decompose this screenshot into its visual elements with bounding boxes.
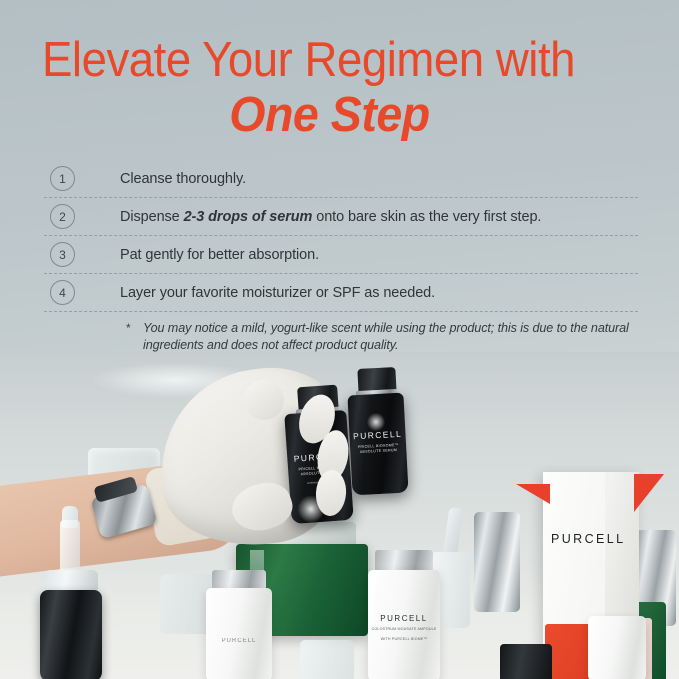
white-bottle [206,588,272,679]
small-glass-bottle [300,640,354,679]
headline-line-2: One Step [56,91,602,139]
step-text: Cleanse thoroughly. [120,171,246,187]
step-row: 1 Cleanse thoroughly. [44,160,638,198]
product-box-brand: PURCELL [551,532,637,546]
white-bottle-label: PURCELL [206,638,272,644]
small-black-bottle [500,644,552,679]
footnote-marker: * [126,320,143,337]
ampoule-product-claim: WITH PURCELL BIOME™ [368,637,440,643]
step-text: Pat gently for better absorption. [120,247,319,263]
promo-image: Elevate Your Regimen with One Step 1 Cle… [0,0,679,679]
step-text: Dispense 2-3 drops of serum onto bare sk… [120,209,541,225]
ampoule-brand: PURCELL [368,614,440,623]
product-photo: PURCELL PURCELL PURCELL COLOSTRUM MOUSAT… [0,352,679,679]
step-text: Layer your favorite moisturizer or SPF a… [120,285,435,301]
headline: Elevate Your Regimen with One Step [42,36,642,139]
step-text-before: Layer your favorite moisturizer or SPF a… [120,285,435,301]
dropper-bottle [40,590,102,679]
bottle-glint [366,412,386,432]
footnote: * You may notice a mild, yogurt-like sce… [126,320,646,354]
step-number-badge: 3 [50,242,75,267]
held-bottle-right-label: PURCELL PRICELL BIOSOME™ ABSOLUTE SERUM [351,429,404,456]
step-text-before: Dispense [120,209,184,225]
step-text-after: onto bare skin as the very first step. [312,209,541,225]
step-number-badge: 2 [50,204,75,229]
bottle-cap [375,550,433,572]
step-text-before: Cleanse thoroughly. [120,171,246,187]
ampoule-product-line: COLOSTRUM MOUSATE AMPOULE [368,627,440,633]
step-row: 4 Layer your favorite moisturizer or SPF… [44,274,638,312]
dropper-tube [60,520,80,576]
silver-cylinder [474,512,520,612]
step-text-emphasis: 2-3 drops of serum [184,209,313,225]
white-bottle-brand: PURCELL [206,638,272,644]
step-number-badge: 1 [50,166,75,191]
step-number-badge: 4 [50,280,75,305]
headline-line-1: Elevate Your Regimen with [42,36,600,84]
white-bottle [588,616,646,679]
step-text-before: Pat gently for better absorption. [120,247,319,263]
footnote-text: You may notice a mild, yogurt-like scent… [143,320,646,354]
bottle-cap [212,570,266,590]
ampoule-bottle-label: PURCELL COLOSTRUM MOUSATE AMPOULE WITH P… [368,614,440,643]
step-row: 2 Dispense 2-3 drops of serum onto bare … [44,198,638,236]
step-row: 3 Pat gently for better absorption. [44,236,638,274]
steps-list: 1 Cleanse thoroughly. 2 Dispense 2-3 dro… [44,160,638,312]
